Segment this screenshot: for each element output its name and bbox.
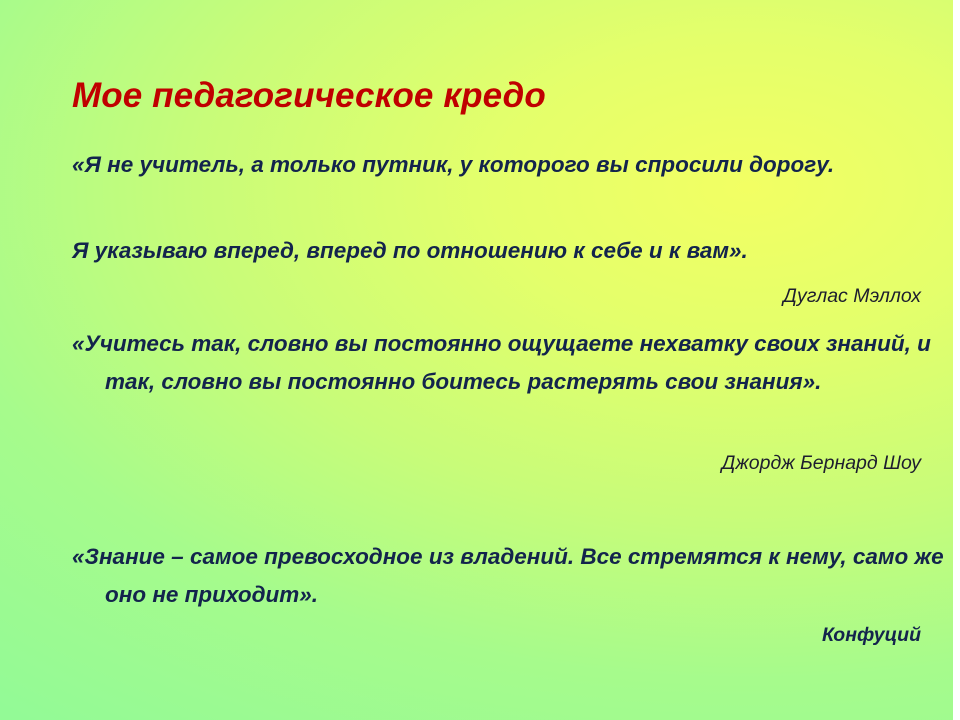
quote-text: «Я не учитель, а только путник, у которо… <box>72 146 960 184</box>
slide-right-margin <box>953 0 960 720</box>
presentation-slide: Мое педагогическое кредо «Я не учитель, … <box>0 0 960 720</box>
quote-text: «Учитесь так, словно вы постоянно ощущае… <box>72 325 960 400</box>
slide-content: Мое педагогическое кредо «Я не учитель, … <box>0 0 953 720</box>
quote-attribution: Джордж Бернард Шоу <box>321 450 921 476</box>
quote-attribution: Конфуций <box>321 622 921 648</box>
page-title: Мое педагогическое кредо <box>72 74 892 118</box>
quote-text: Я указываю вперед, вперед по отношению к… <box>72 232 960 270</box>
quote-text: «Знание – самое превосходное из владений… <box>72 538 960 613</box>
quote-attribution: Дуглас Мэллох <box>321 283 921 309</box>
